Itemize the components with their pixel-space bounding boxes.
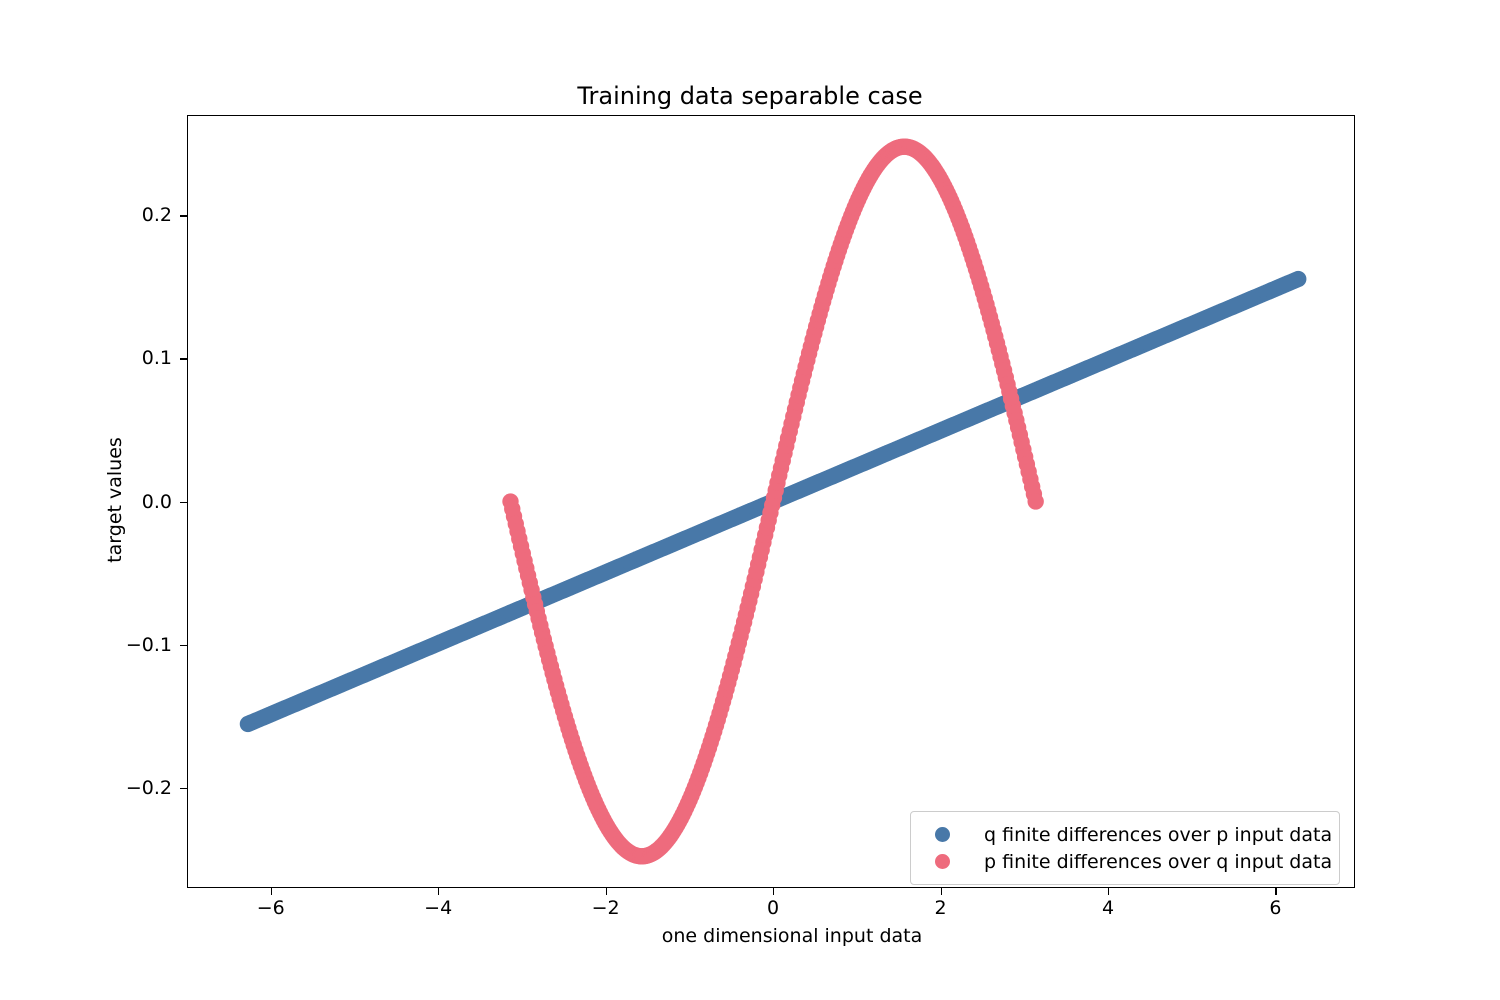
- page-title: Training data separable case: [0, 82, 1500, 110]
- x-axis-tick-label: −2: [592, 897, 620, 919]
- y-axis-tick: [180, 215, 187, 216]
- y-axis-label: target values: [104, 350, 126, 650]
- legend-item-label: q finite differences over p input data: [984, 824, 1332, 846]
- x-axis-tick: [1108, 888, 1109, 895]
- x-axis-tick-label: 4: [1102, 897, 1114, 919]
- y-axis-tick: [180, 358, 187, 359]
- x-axis-tick-label: −4: [424, 897, 452, 919]
- x-axis-tick: [438, 888, 439, 895]
- legend-marker-icon: [935, 827, 950, 842]
- plot-axes: [187, 115, 1355, 888]
- x-axis-label: one dimensional input data: [0, 925, 1500, 947]
- y-axis-tick-label: −0.2: [126, 777, 172, 799]
- x-axis-tick: [1275, 888, 1276, 895]
- plot-canvas: [188, 116, 1354, 887]
- y-axis-tick: [180, 502, 187, 503]
- legend-marker-icon: [935, 854, 950, 869]
- y-axis-tick-label: 0.2: [142, 204, 172, 226]
- x-axis-tick: [773, 888, 774, 895]
- y-axis-tick-label: 0.1: [142, 347, 172, 369]
- legend-item[interactable]: q finite differences over p input data: [923, 821, 1327, 848]
- legend-item[interactable]: p finite differences over q input data: [923, 848, 1327, 875]
- y-axis-tick-label: −0.1: [126, 634, 172, 656]
- series-points: [502, 139, 1044, 865]
- matplotlib-figure: Training data separable case −6−4−202460…: [0, 0, 1500, 1000]
- legend: q finite differences over p input data p…: [910, 811, 1340, 885]
- x-axis-tick: [271, 888, 272, 895]
- legend-item-label: p finite differences over q input data: [984, 851, 1332, 873]
- x-axis-tick-label: 2: [935, 897, 947, 919]
- x-axis-tick: [941, 888, 942, 895]
- y-axis-tick: [180, 645, 187, 646]
- x-axis-tick-label: 0: [767, 897, 779, 919]
- x-axis-tick-label: −6: [257, 897, 285, 919]
- x-axis-tick: [606, 888, 607, 895]
- x-axis-tick-label: 6: [1269, 897, 1281, 919]
- y-axis-tick-label: 0.0: [142, 491, 172, 513]
- y-axis-tick: [180, 788, 187, 789]
